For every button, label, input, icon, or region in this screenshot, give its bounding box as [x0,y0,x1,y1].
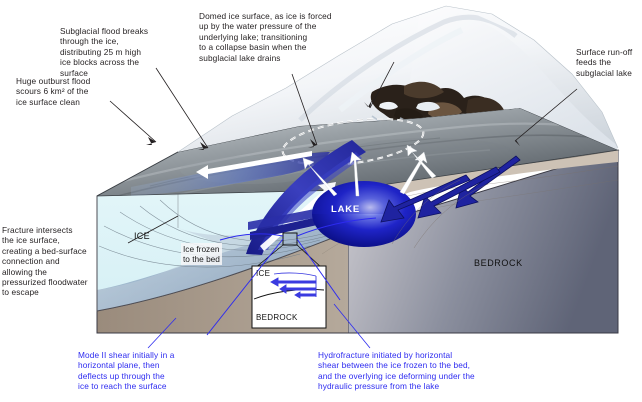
annotation-hydrofracture-initiated: Hydrofracture initiated by horizontal sh… [318,350,534,392]
annotation-huge-outburst-flood: Huge outburst flood scours 6 km² of the … [16,76,112,107]
annotation-subglacial-flood-breaks: Subglacial flood breaks through the ice,… [60,26,190,78]
label-ice-frozen-to-bed: Ice frozen to the bed [181,243,222,265]
annotation-mode-ii-shear: Mode II shear initially in a horizontal … [78,350,220,392]
label-ice: ICE [134,231,150,241]
figure-canvas: Subglacial flood breaks through the ice,… [0,0,642,402]
label-lake: LAKE [331,204,360,215]
annotation-fracture-intersects: Fracture intersects the ice surface, cre… [2,225,100,298]
annotation-surface-run-off: Surface run-off feeds the subglacial lak… [576,47,642,78]
inset-label-ice: ICE [256,269,270,278]
annotation-domed-ice-surface: Domed ice surface, as ice is forced up b… [199,11,371,63]
inset-label-bedrock: BEDROCK [256,313,298,322]
label-bedrock: BEDROCK [474,258,523,268]
